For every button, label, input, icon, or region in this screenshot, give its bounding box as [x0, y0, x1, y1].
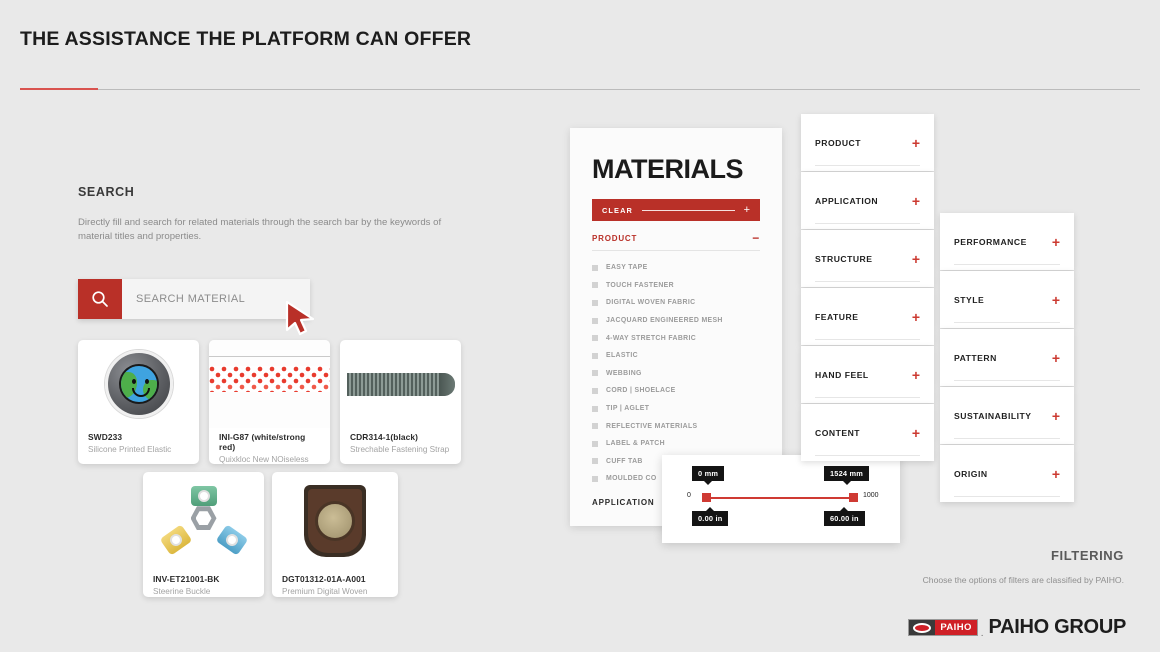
plus-icon[interactable]: +: [1052, 409, 1060, 423]
checkbox-icon[interactable]: [592, 318, 598, 324]
filter-divider: [815, 455, 920, 456]
product-option-list: EASY TAPE TOUCH FASTENER DIGITAL WOVEN F…: [592, 259, 760, 488]
option-row[interactable]: CORD | SHOELACE: [592, 382, 760, 400]
slider-max-label: 1000: [863, 492, 879, 499]
option-row[interactable]: ELASTIC: [592, 347, 760, 365]
slider-max-tooltip-in: 60.00 in: [824, 511, 865, 526]
filter-card-performance[interactable]: PERFORMANCE+: [940, 213, 1074, 270]
search-bar[interactable]: SEARCH MATERIAL: [78, 279, 310, 319]
filter-card-content[interactable]: CONTENT+: [801, 404, 934, 461]
product-name: Silicone Printed Elastic: [88, 444, 189, 455]
product-card[interactable]: SWD233 Silicone Printed Elastic: [78, 340, 199, 464]
filter-divider: [954, 322, 1060, 323]
clear-divider: [642, 210, 735, 211]
section-header-application[interactable]: APPLICATION: [592, 498, 654, 507]
page-title: THE ASSISTANCE THE PLATFORM CAN OFFER: [20, 28, 471, 51]
plus-icon[interactable]: +: [912, 136, 920, 150]
earth-badge-icon: [105, 350, 173, 418]
strap-graphic: [347, 373, 455, 396]
plus-icon[interactable]: +: [912, 310, 920, 324]
checkbox-icon[interactable]: [592, 300, 598, 306]
slider-handle-max[interactable]: [849, 493, 858, 502]
filter-divider: [815, 397, 920, 398]
filtering-description: Choose the options of filters are classi…: [923, 575, 1124, 585]
filter-card-feature[interactable]: FEATURE+: [801, 288, 934, 345]
filter-label: CONTENT: [815, 428, 860, 438]
clear-plus-icon: +: [744, 205, 750, 216]
checkbox-icon[interactable]: [592, 335, 598, 341]
option-label: JACQUARD ENGINEERED MESH: [606, 317, 723, 324]
product-image-dgt01312: [272, 472, 398, 570]
option-row[interactable]: WEBBING: [592, 365, 760, 383]
option-label: TIP | AGLET: [606, 405, 649, 412]
checkbox-icon[interactable]: [592, 423, 598, 429]
option-label: ELASTIC: [606, 352, 638, 359]
checkbox-icon[interactable]: [592, 476, 598, 482]
product-code: INI-G87 (white/strong red): [219, 432, 320, 452]
product-code: DGT01312-01A-A001: [282, 574, 388, 584]
product-card[interactable]: INI-G87 (white/strong red) Quixkloc New …: [209, 340, 330, 464]
logo-wordmark: PAIHO GROUP: [989, 616, 1126, 639]
checkbox-icon[interactable]: [592, 265, 598, 271]
filter-card-pattern[interactable]: PATTERN+: [940, 329, 1074, 386]
slider-track[interactable]: [706, 497, 854, 499]
product-card[interactable]: DGT01312-01A-A001 Premium Digital Woven …: [272, 472, 398, 597]
plus-icon[interactable]: +: [912, 368, 920, 382]
slider-handle-min[interactable]: [702, 493, 711, 502]
filter-card-style[interactable]: STYLE+: [940, 271, 1074, 328]
woven-patch-graphic: [304, 485, 366, 557]
filter-label: ORIGIN: [954, 469, 988, 479]
search-section-heading: SEARCH: [78, 185, 134, 199]
option-label: LABEL & PATCH: [606, 440, 665, 447]
option-row[interactable]: JACQUARD ENGINEERED MESH: [592, 312, 760, 330]
product-name: Steerine Buckle: [153, 586, 254, 597]
option-label: CUFF TAB: [606, 458, 643, 465]
filtering-heading: FILTERING: [1051, 548, 1124, 563]
section-label: PRODUCT: [592, 234, 637, 243]
search-input[interactable]: SEARCH MATERIAL: [122, 279, 310, 319]
product-name: Quixkloc New NOiseless Hook to Hook Tab: [219, 454, 320, 464]
filter-label: FEATURE: [815, 312, 858, 322]
product-name: Strechable Fastening Strap: [350, 444, 451, 455]
slider-min-tooltip-in: 0.00 in: [692, 511, 728, 526]
option-label: MOULDED CO: [606, 475, 657, 482]
product-image-inv-et21001: [143, 472, 264, 570]
filter-card-product[interactable]: PRODUCT+: [801, 114, 934, 171]
option-label: EASY TAPE: [606, 264, 648, 271]
minus-icon[interactable]: −: [752, 232, 760, 244]
option-label: CORD | SHOELACE: [606, 387, 676, 394]
plus-icon[interactable]: +: [912, 194, 920, 208]
oval-icon: [909, 620, 935, 635]
option-row[interactable]: LABEL & PATCH: [592, 435, 760, 453]
plus-icon[interactable]: +: [1052, 467, 1060, 481]
slider-min-label: 0: [687, 492, 691, 499]
filter-label: SUSTAINABILITY: [954, 411, 1032, 421]
buckle-graphic: [161, 486, 247, 556]
filter-label: APPLICATION: [815, 196, 878, 206]
filter-divider: [815, 281, 920, 282]
filter-card-sustainability[interactable]: SUSTAINABILITY+: [940, 387, 1074, 444]
clear-filters-button[interactable]: CLEAR +: [592, 199, 760, 221]
filter-card-hand-feel[interactable]: HAND FEEL+: [801, 346, 934, 403]
checkbox-icon[interactable]: [592, 458, 598, 464]
title-divider: [20, 89, 1140, 90]
filter-card-structure[interactable]: STRUCTURE+: [801, 230, 934, 287]
checkbox-icon[interactable]: [592, 388, 598, 394]
filter-card-application[interactable]: APPLICATION+: [801, 172, 934, 229]
filter-divider: [954, 380, 1060, 381]
filter-label: HAND FEEL: [815, 370, 869, 380]
search-button[interactable]: [78, 279, 122, 319]
range-slider-card[interactable]: 0 mm 1524 mm 0 1000 0.00 in 60.00 in: [662, 455, 900, 543]
plus-icon[interactable]: +: [912, 252, 920, 266]
plus-icon[interactable]: +: [912, 426, 920, 440]
product-image-swd233: [78, 340, 199, 428]
checkbox-icon[interactable]: [592, 370, 598, 376]
plus-icon[interactable]: +: [1052, 293, 1060, 307]
checkbox-icon[interactable]: [592, 441, 598, 447]
filter-label: PATTERN: [954, 353, 997, 363]
paiho-logo-mark: PAIHO: [908, 619, 977, 636]
option-label: TOUCH FASTENER: [606, 282, 674, 289]
logo-separator: .: [981, 628, 984, 639]
filter-label: PRODUCT: [815, 138, 861, 148]
product-code: CDR314-1(black): [350, 432, 451, 442]
slider-max-tooltip-mm: 1524 mm: [824, 466, 869, 481]
section-header-product[interactable]: PRODUCT −: [592, 232, 760, 251]
product-image-cdr314: [340, 340, 461, 428]
filter-divider: [954, 438, 1060, 439]
product-card[interactable]: INV-ET21001-BK Steerine Buckle: [143, 472, 264, 597]
filter-label: STRUCTURE: [815, 254, 873, 264]
search-icon: [91, 290, 109, 308]
plus-icon[interactable]: +: [1052, 235, 1060, 249]
paiho-logo: PAIHO . PAIHO GROUP: [908, 616, 1126, 639]
option-label: 4-WAY STRETCH FABRIC: [606, 335, 696, 342]
slider-min-tooltip-mm: 0 mm: [692, 466, 724, 481]
title-divider-accent: [20, 88, 98, 90]
option-label: WEBBING: [606, 370, 642, 377]
filter-card-origin[interactable]: ORIGIN+: [940, 445, 1074, 502]
materials-title: MATERIALS: [592, 154, 760, 185]
product-code: INV-ET21001-BK: [153, 574, 254, 584]
option-row[interactable]: DIGITAL WOVEN FABRIC: [592, 294, 760, 312]
option-label: DIGITAL WOVEN FABRIC: [606, 299, 695, 306]
clear-label: CLEAR: [602, 206, 633, 215]
search-section-description: Directly fill and search for related mat…: [78, 216, 460, 244]
filter-divider: [815, 165, 920, 166]
product-card[interactable]: CDR314-1(black) Strechable Fastening Str…: [340, 340, 461, 464]
checkbox-icon[interactable]: [592, 353, 598, 359]
logo-mark-text: PAIHO: [935, 620, 976, 635]
plus-icon[interactable]: +: [1052, 351, 1060, 365]
option-row[interactable]: EASY TAPE: [592, 259, 760, 277]
option-row[interactable]: 4-WAY STRETCH FABRIC: [592, 329, 760, 347]
filter-divider: [954, 496, 1060, 497]
filter-divider: [815, 223, 920, 224]
product-image-ini-g87: [209, 340, 330, 428]
product-code: SWD233: [88, 432, 189, 442]
checkbox-icon[interactable]: [592, 282, 598, 288]
checkbox-icon[interactable]: [592, 406, 598, 412]
product-name: Premium Digital Woven Label: [282, 586, 388, 597]
filter-label: PERFORMANCE: [954, 237, 1027, 247]
filter-divider: [815, 339, 920, 340]
option-row[interactable]: TIP | AGLET: [592, 400, 760, 418]
option-label: REFLECTIVE MATERIALS: [606, 423, 697, 430]
option-row[interactable]: REFLECTIVE MATERIALS: [592, 417, 760, 435]
filter-divider: [954, 264, 1060, 265]
filter-label: STYLE: [954, 295, 984, 305]
option-row[interactable]: TOUCH FASTENER: [592, 277, 760, 295]
